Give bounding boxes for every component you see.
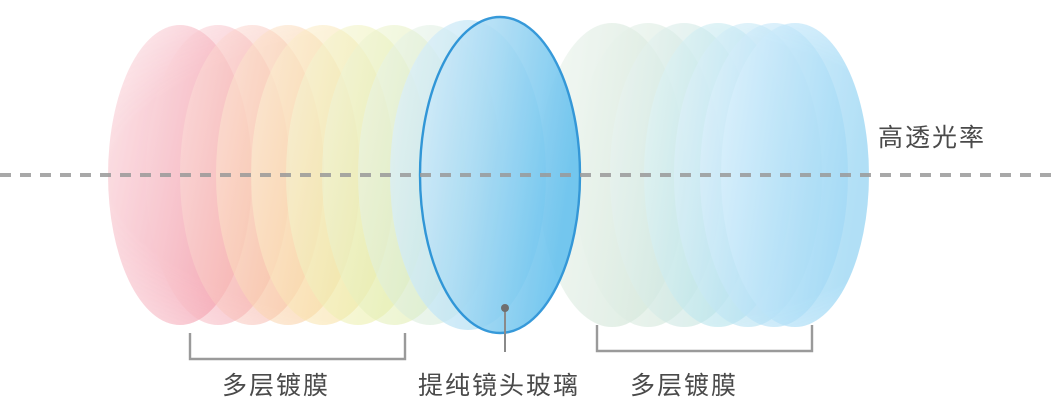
- label-coating-left: 多层镀膜: [222, 366, 330, 402]
- bracket-left-coating: [190, 333, 405, 359]
- label-coating-right: 多层镀膜: [630, 366, 738, 402]
- label-transmittance: 高透光率: [878, 118, 986, 154]
- lens-coating-diagram: 多层镀膜 提纯镜头玻璃 多层镀膜 高透光率: [0, 0, 1052, 419]
- bracket-right-coating: [597, 325, 812, 351]
- leader-dot-center-glass: [501, 304, 509, 312]
- label-purified-glass: 提纯镜头玻璃: [418, 366, 580, 402]
- lens-stack-illustration: [0, 0, 1052, 419]
